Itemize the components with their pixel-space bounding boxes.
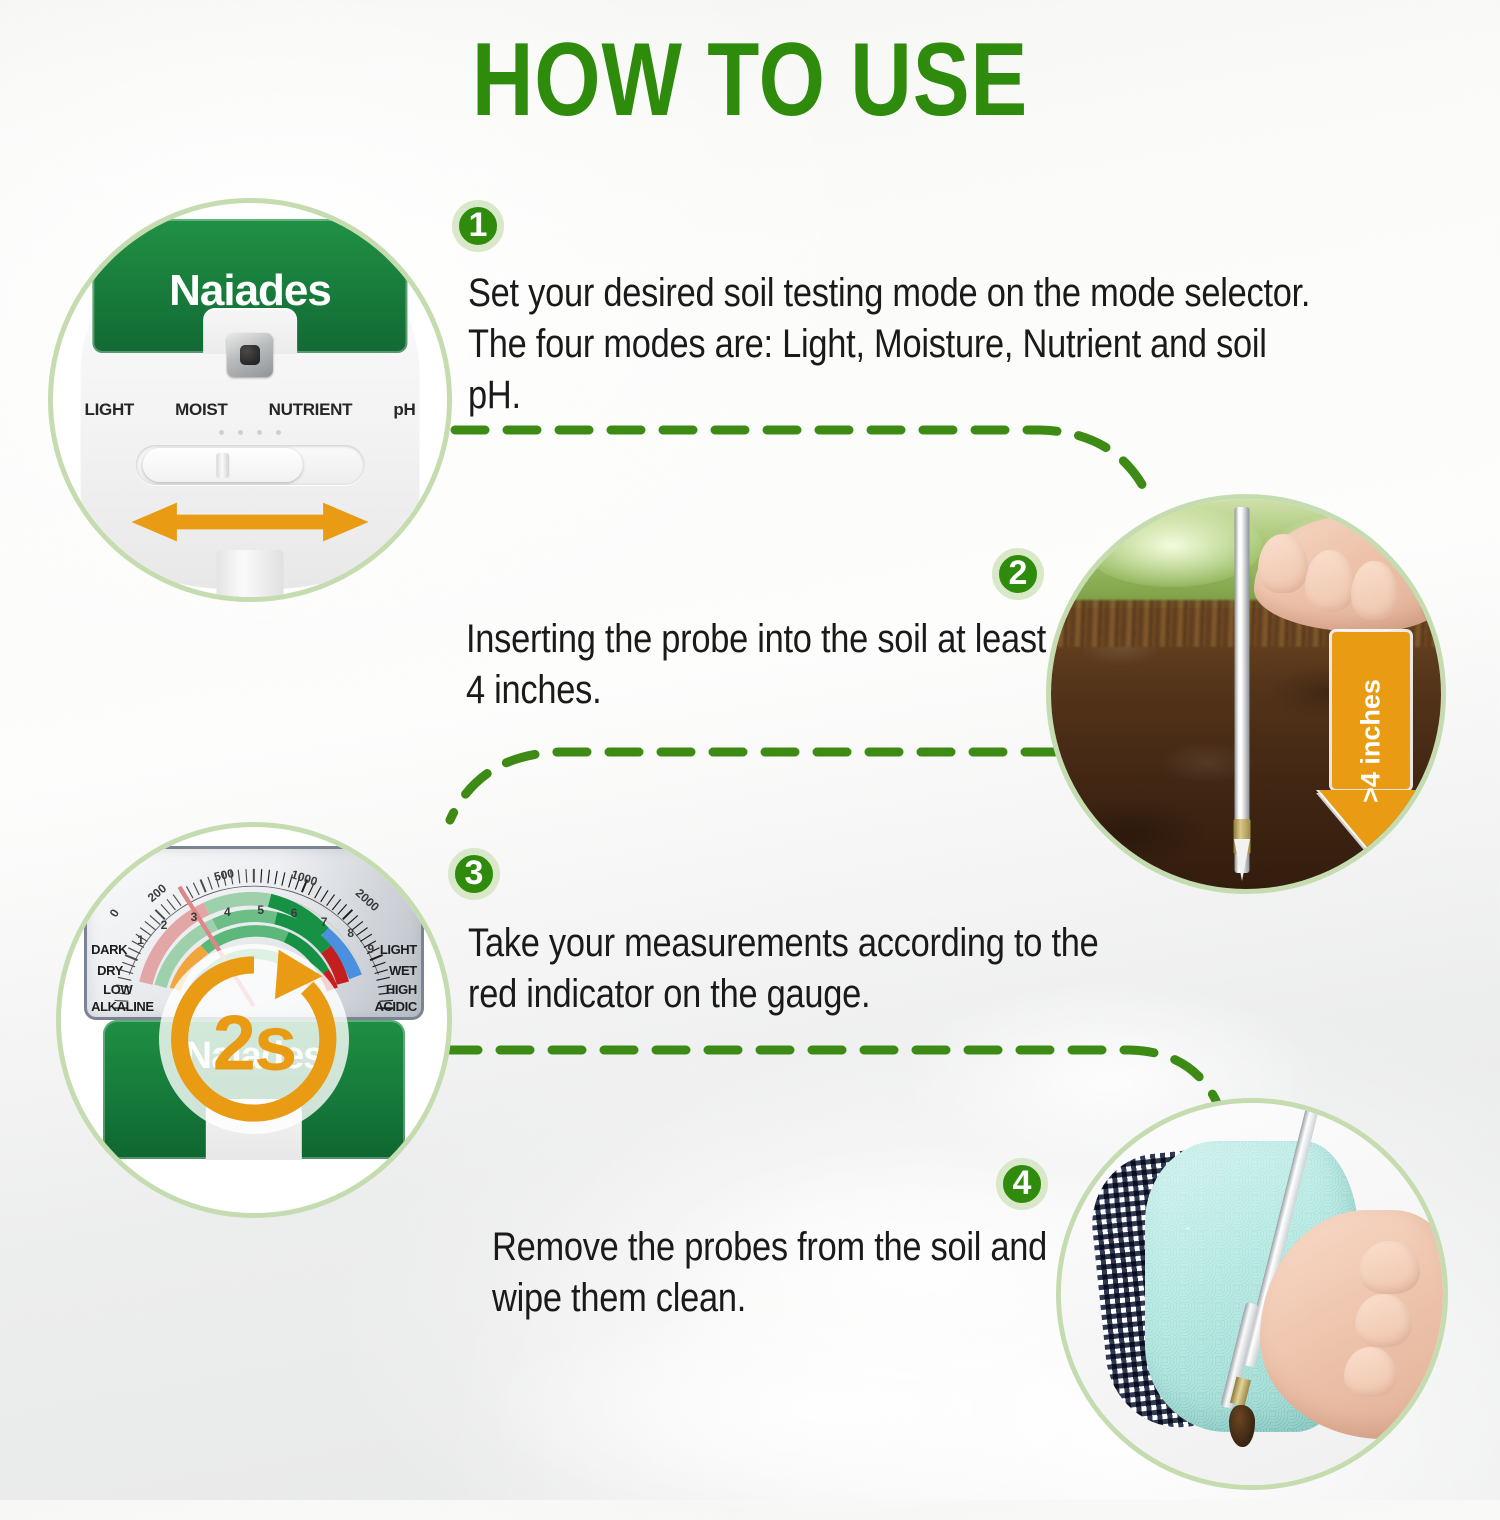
gauge-label-light: LIGHT xyxy=(380,942,417,957)
depth-arrow-icon: >4 inches xyxy=(1332,632,1410,850)
step-1-number: 1 xyxy=(469,208,488,242)
step-4-text: Remove the probes from the soil and wipe… xyxy=(492,1222,1060,1324)
step-2-text: Inserting the probe into the soil at lea… xyxy=(466,614,1051,716)
probe-tip xyxy=(1234,839,1250,881)
gauge-inner-4: 4 xyxy=(224,905,231,919)
connector-2-to-3 xyxy=(450,752,1055,820)
gauge-label-acidic: ACIDIC xyxy=(374,999,416,1014)
device-mode-labels: LIGHT MOIST NUTRIENT pH xyxy=(85,400,416,420)
gauge-inner-1: 1 xyxy=(137,933,144,947)
slider-knob[interactable] xyxy=(143,448,303,482)
step-3-image-circle: 0 200 500 1000 2000 1 2 3 4 5 6 7 8 9 DA… xyxy=(56,822,452,1218)
gauge-label-dark: DARK xyxy=(91,942,127,957)
gauge-inner-6: 6 xyxy=(291,906,298,920)
connector-1-to-2 xyxy=(455,430,1150,500)
page-title: HOW TO USE xyxy=(135,26,1365,135)
gauge-inner-5: 5 xyxy=(257,903,264,917)
gauge-inner-3: 3 xyxy=(191,910,198,924)
device-mode-moist: MOIST xyxy=(175,400,227,420)
timer-badge-label: 2s xyxy=(213,998,296,1089)
device-mode-light: LIGHT xyxy=(85,400,135,420)
depth-arrow-label: >4 inches xyxy=(1355,679,1386,803)
device-mode-detents xyxy=(219,430,281,435)
gauge-label-high: HIGH xyxy=(386,982,417,997)
gauge-inner-2: 2 xyxy=(161,918,168,932)
gauge-inner-7: 7 xyxy=(321,915,328,929)
device-power-button[interactable] xyxy=(227,333,273,377)
gauge-label-dry: DRY xyxy=(97,963,123,978)
step-1-badge: 1 xyxy=(452,200,504,252)
device-brand-logo: Naiades xyxy=(53,266,447,316)
step-4-image-circle xyxy=(1056,1098,1448,1490)
gauge-inner-8: 8 xyxy=(347,926,354,940)
step-1-image-circle: Naiades LIGHT MOIST NUTRIENT pH xyxy=(48,198,452,602)
cloth-finger-3 xyxy=(1344,1347,1397,1397)
gauge-label-low: LOW xyxy=(103,982,132,997)
step-3-badge: 3 xyxy=(448,848,500,900)
timer-badge: 2s xyxy=(159,944,349,1134)
slide-direction-arrow-icon xyxy=(124,499,376,545)
step-4-number: 4 xyxy=(1013,1166,1032,1200)
step-3-text: Take your measurements according to the … xyxy=(468,918,1104,1020)
step-2-image-circle: >4 inches xyxy=(1046,494,1446,894)
gauge-label-alkaline: ALKALINE xyxy=(91,999,154,1014)
step-2-badge: 2 xyxy=(992,548,1044,600)
device-mode-nutrient: NUTRIENT xyxy=(269,400,353,420)
device-mode-ph: pH xyxy=(393,400,415,420)
device-probe-stem xyxy=(217,550,284,602)
device-mode-selector-slider[interactable] xyxy=(136,445,365,485)
step-4-badge: 4 xyxy=(996,1158,1048,1210)
step-3-number: 3 xyxy=(465,856,484,890)
step-2-number: 2 xyxy=(1009,556,1028,590)
soil-residue-on-probe xyxy=(1229,1405,1255,1447)
gauge-label-wet: WET xyxy=(389,963,417,978)
step-1-text: Set your desired soil testing mode on th… xyxy=(468,268,1328,422)
gauge-inner-9: 9 xyxy=(367,942,374,956)
finger-3 xyxy=(1351,561,1398,620)
